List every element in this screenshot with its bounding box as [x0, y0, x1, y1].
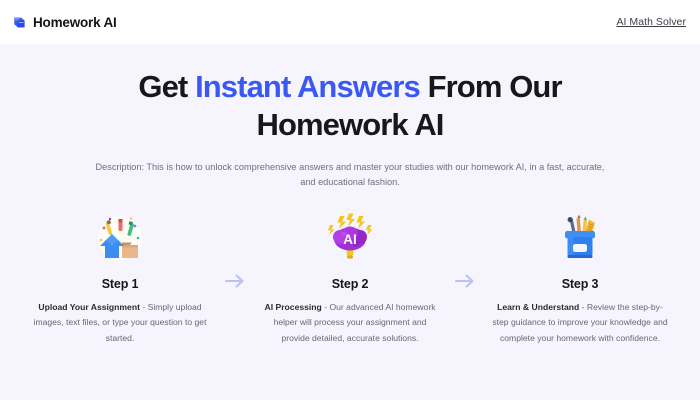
step-card-3: Step 3 Learn & Understand - Review the s… [482, 213, 678, 345]
supply-box-icon [548, 213, 612, 267]
step-title-1: Step 1 [102, 277, 139, 291]
step-connector-1 [218, 213, 252, 289]
headline-accent: Instant Answers [195, 69, 420, 104]
brand-logo[interactable]: Homework AI [12, 15, 117, 30]
landing-page: Homework AI AI Math Solver Get Instant A… [0, 0, 700, 400]
step-body-3: Learn & Understand - Review the step-by-… [490, 300, 670, 345]
upload-assignment-icon [88, 213, 152, 267]
svg-text:AI: AI [343, 232, 357, 247]
step-lead-3: Learn & Understand [497, 302, 579, 312]
page-title: Get Instant Answers From Our Homework AI [115, 68, 585, 144]
brand-name: Homework AI [33, 15, 117, 30]
headline-text-1: Get [138, 69, 195, 104]
nav-link-ai-math-solver[interactable]: AI Math Solver [616, 16, 686, 28]
book-logo-icon [12, 15, 27, 30]
step-connector-2 [448, 213, 482, 289]
steps-row: Step 1 Upload Your Assignment - Simply u… [20, 213, 680, 345]
step-card-1: Step 1 Upload Your Assignment - Simply u… [22, 213, 218, 345]
step-lead-2: AI Processing [265, 302, 322, 312]
hero-description: Description: This is how to unlock compr… [92, 160, 608, 192]
step-lead-1: Upload Your Assignment [38, 302, 140, 312]
arrow-right-icon [454, 273, 476, 289]
step-card-2: AI Step 2 AI Processing - Our advanced A… [252, 213, 448, 345]
step-body-2: AI Processing - Our advanced AI homework… [260, 300, 440, 345]
hero-section: Get Instant Answers From Our Homework AI… [0, 44, 700, 400]
site-header: Homework AI AI Math Solver [0, 0, 700, 44]
step-title-2: Step 2 [332, 277, 369, 291]
step-body-1: Upload Your Assignment - Simply upload i… [30, 300, 210, 345]
ai-brain-bulb-icon: AI [318, 213, 382, 267]
step-title-3: Step 3 [562, 277, 599, 291]
arrow-right-icon [224, 273, 246, 289]
